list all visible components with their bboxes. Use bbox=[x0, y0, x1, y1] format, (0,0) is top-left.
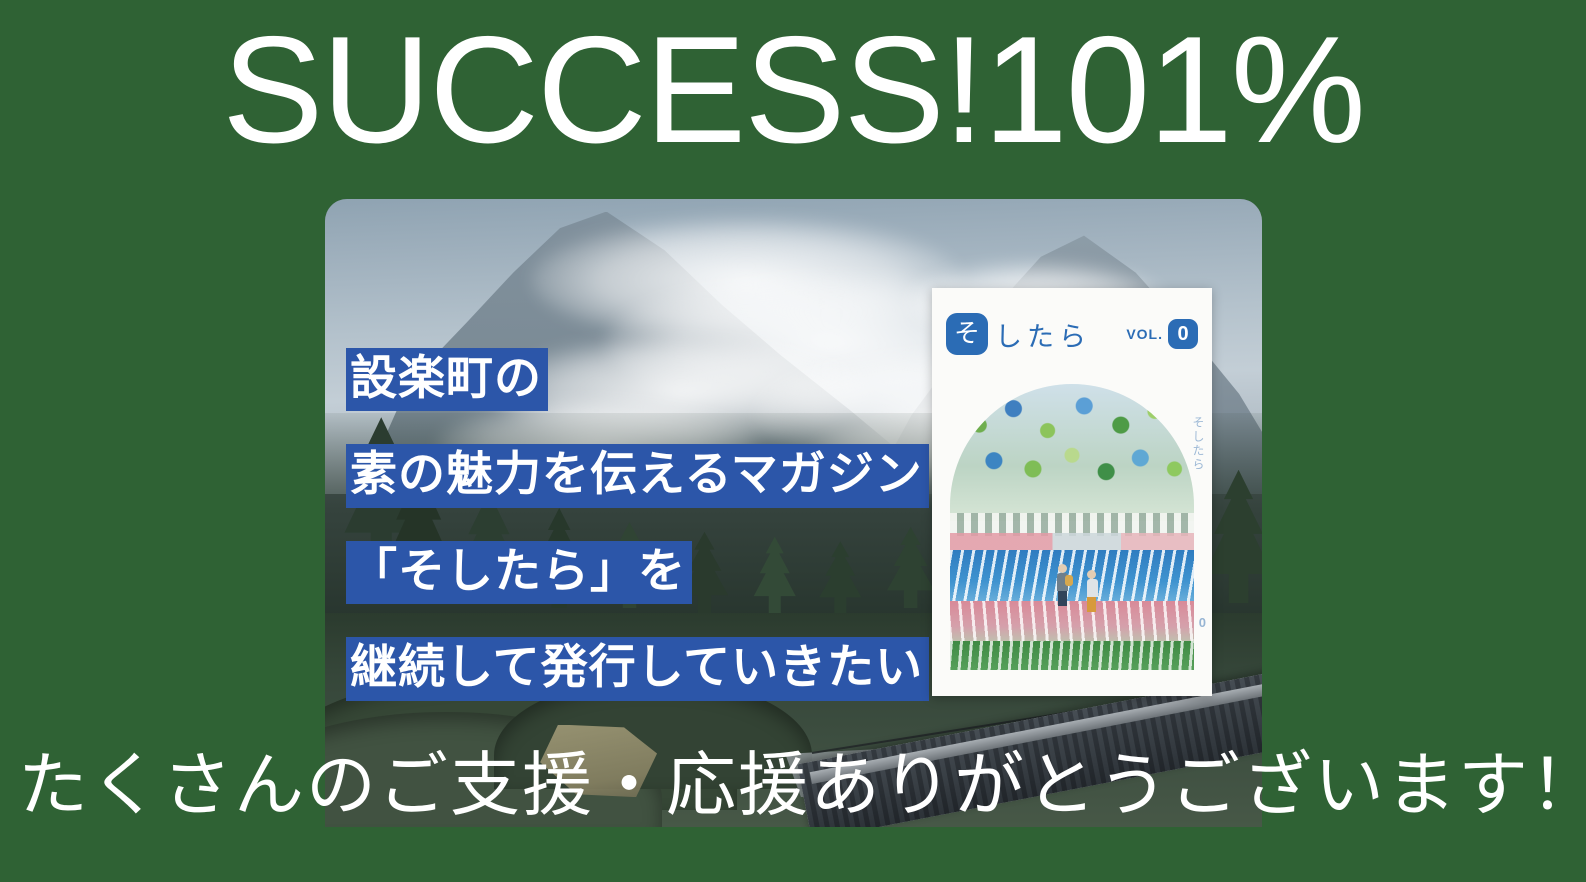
arch-frame bbox=[950, 384, 1194, 670]
success-banner: SUCCESS!101% bbox=[0, 0, 1586, 882]
illo-figure-body bbox=[1087, 579, 1098, 597]
mag-logo-icon: そ bbox=[946, 313, 988, 355]
copy-line-3: 「そしたら」を bbox=[346, 541, 692, 604]
illo-figure-head bbox=[1087, 570, 1096, 579]
magazine-masthead: そ したら VOL. 0 bbox=[932, 306, 1212, 362]
copy-line-2: 素の魅力を伝えるマガジン bbox=[346, 444, 929, 507]
illo-figure bbox=[1087, 570, 1097, 610]
magazine-illustration bbox=[950, 384, 1194, 670]
illo-figure-body bbox=[1057, 573, 1068, 591]
copy-line-1: 設楽町の bbox=[346, 348, 548, 411]
illo-figure-legs bbox=[1058, 591, 1067, 606]
magazine-spine-text: そしたら bbox=[1190, 416, 1206, 472]
illo-figure-backpack bbox=[1065, 575, 1073, 586]
highlighted-copy: 設楽町の 素の魅力を伝えるマガジン 「そしたら」を 継続して発行していきたい bbox=[346, 348, 906, 701]
copy-line-4: 継続して発行していきたい bbox=[346, 637, 929, 700]
illo-figure bbox=[1057, 564, 1067, 608]
illo-figure-head bbox=[1058, 564, 1067, 573]
illo-foreground bbox=[950, 641, 1194, 670]
magazine-title: したら bbox=[995, 315, 1091, 354]
illo-figure-legs bbox=[1087, 597, 1096, 612]
thanks-message: たくさんのご支援・応援ありがとうございます！ bbox=[18, 742, 1568, 828]
magazine-volume: VOL. 0 bbox=[1126, 319, 1198, 349]
vol-label: VOL. bbox=[1126, 326, 1163, 342]
page-title: SUCCESS!101% bbox=[0, 10, 1586, 170]
illo-near-bank bbox=[950, 601, 1194, 647]
illo-forest-canopy bbox=[950, 384, 1194, 521]
magazine-spine-number: 0 bbox=[1199, 615, 1206, 630]
vol-badge-icon: 0 bbox=[1168, 319, 1198, 349]
magazine-cover: そ したら VOL. 0 bbox=[932, 288, 1212, 696]
